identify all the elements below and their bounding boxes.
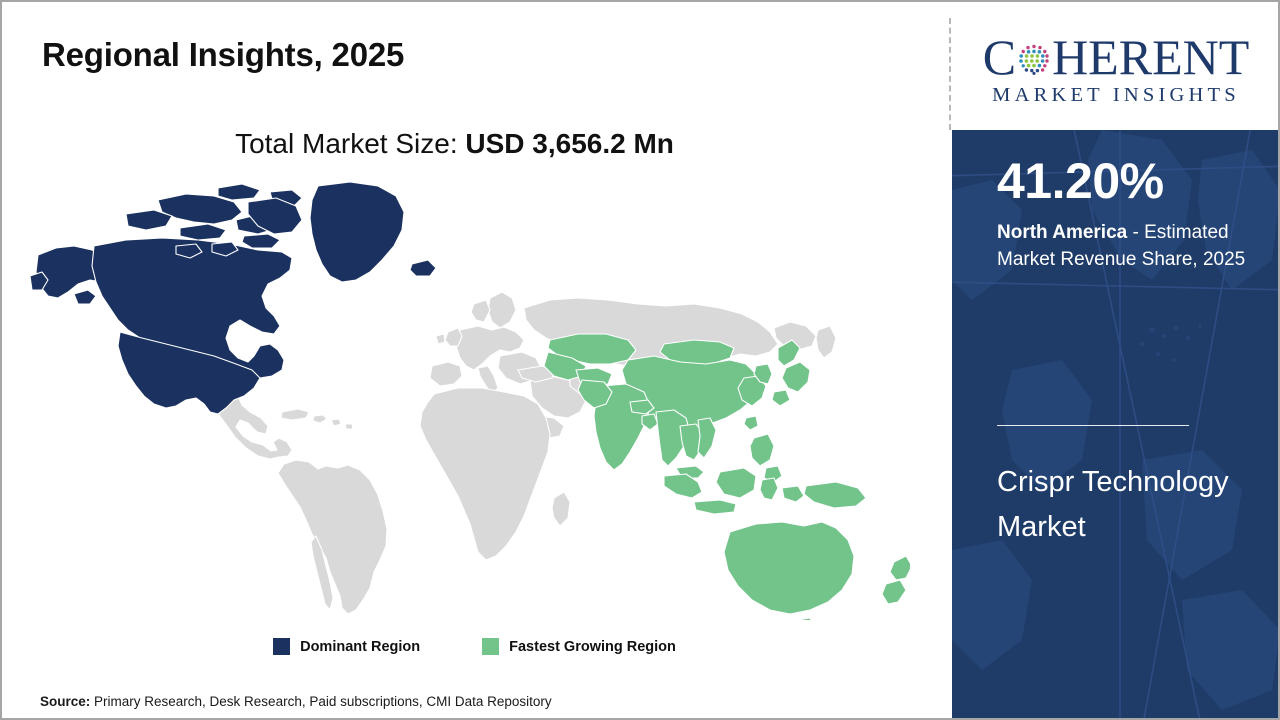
map-region-asia-pacific	[544, 334, 910, 620]
total-market-size: Total Market Size: USD 3,656.2 Mn	[2, 128, 907, 160]
legend-label-dominant: Dominant Region	[300, 639, 420, 655]
map-region-north-america	[30, 182, 436, 414]
dotted-globe-icon	[1016, 41, 1052, 77]
legend-label-fastest-growing: Fastest Growing Region	[509, 639, 676, 655]
legend-swatch-fastest-growing	[482, 638, 499, 655]
stat-description: North America - Estimated Market Revenue…	[997, 220, 1247, 274]
legend-swatch-dominant	[273, 638, 290, 655]
infographic-page: Regional Insights, 2025 Total Market Siz…	[0, 0, 1280, 720]
world-map	[30, 180, 910, 620]
page-title: Regional Insights, 2025	[42, 36, 404, 74]
logo-wordmark: C	[983, 32, 1250, 82]
stat-panel-content: 41.20% North America - Estimated Market …	[952, 130, 1280, 720]
panel-divider-rule	[997, 425, 1189, 426]
logo-subtitle: MARKET INSIGHTS	[992, 84, 1240, 107]
market-name: Crispr Technology Market	[997, 460, 1247, 550]
source-note: Source: Primary Research, Desk Research,…	[40, 694, 552, 709]
map-legend: Dominant Region Fastest Growing Region	[2, 638, 947, 655]
source-label: Source:	[40, 694, 90, 709]
source-text: Primary Research, Desk Research, Paid su…	[90, 694, 551, 709]
stat-percent: 41.20%	[997, 156, 1164, 206]
total-market-size-label: Total Market Size:	[235, 128, 458, 159]
world-map-container	[30, 180, 910, 620]
left-content-area: Regional Insights, 2025 Total Market Siz…	[2, 2, 949, 718]
stat-region-name: North America	[997, 222, 1127, 243]
legend-item-fastest-growing: Fastest Growing Region	[482, 638, 676, 655]
legend-item-dominant: Dominant Region	[273, 638, 420, 655]
logo-letter-c: C	[983, 32, 1016, 82]
total-market-size-value: USD 3,656.2 Mn	[465, 128, 674, 159]
stat-panel: 41.20% North America - Estimated Market …	[952, 130, 1280, 720]
vertical-dashed-divider	[949, 18, 951, 130]
company-logo: C	[952, 4, 1280, 130]
logo-word-rest: HERENT	[1052, 32, 1249, 82]
